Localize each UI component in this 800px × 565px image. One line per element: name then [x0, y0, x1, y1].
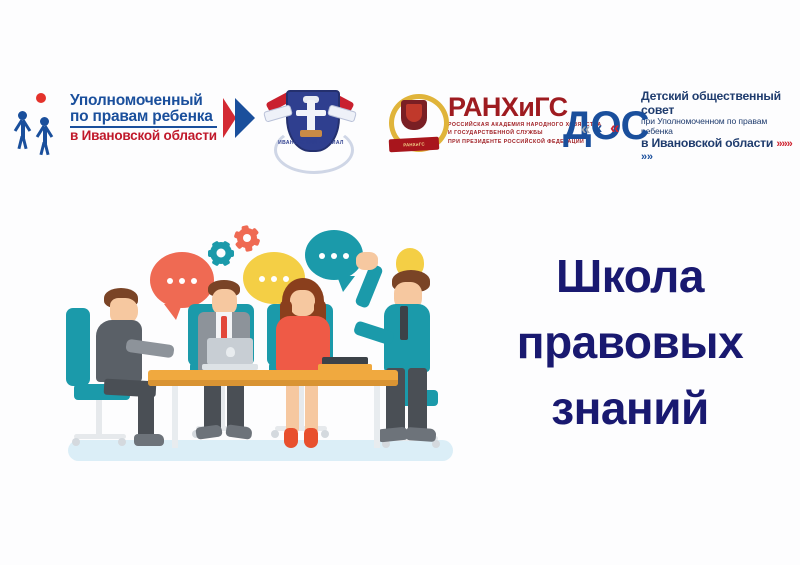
logo-ombudsman-text: Уполномоченный по правам ребенка в Ивано… — [70, 93, 217, 143]
logo-bar: Уполномоченный по правам ребенка в Ивано… — [0, 84, 800, 184]
dos-tail-blue-icon: »» — [641, 151, 653, 163]
page-title: Школа правовых знаний — [470, 243, 790, 442]
ombudsman-line-3: в Ивановской области — [70, 126, 217, 143]
logo-dos-text: Детский общественный совет при Уполномоч… — [641, 90, 800, 164]
logo-ombudsman: Уполномоченный по правам ребенка в Ивано… — [16, 90, 256, 146]
logo-crest: ИВАНОВСКИЙ ФИЛИАЛ — [262, 82, 358, 174]
meeting-illustration — [60, 220, 460, 470]
gear-teal-icon — [210, 242, 232, 264]
ranepa-ribbon-text: РАНХиГС — [389, 137, 440, 153]
page-title-line-3: знаний — [470, 375, 790, 441]
chevron-grey-icon: « — [581, 120, 589, 137]
ball-icon — [36, 93, 46, 103]
conference-table — [148, 370, 398, 386]
double-chevron-icon — [222, 92, 256, 144]
speech-bubble-teal-icon — [305, 230, 363, 280]
ombudsman-line-1: Уполномоченный — [70, 93, 217, 109]
page-title-line-1: Школа — [470, 243, 790, 309]
ranepa-emblem-icon: РАНХиГС — [385, 90, 443, 152]
ombudsman-line-2: по правам ребенка — [70, 109, 217, 125]
dos-line-1: Детский общественный совет — [641, 90, 800, 117]
laptop-icon — [202, 338, 258, 372]
chevron-blue-icon: « — [593, 119, 601, 136]
table-leg — [172, 386, 178, 448]
logo-dos: ДОС « « « Детский общественный совет при… — [563, 90, 800, 164]
crest-arc-text: ИВАНОВСКИЙ ФИЛИАЛ — [278, 140, 344, 146]
dos-line-3: в Ивановской области »»» »» — [641, 137, 800, 164]
crest-emblem-icon: ИВАНОВСКИЙ ФИЛИАЛ — [262, 82, 358, 174]
child-figure-icon — [40, 117, 49, 144]
person-man-grey-vest — [82, 288, 174, 448]
dos-line-3-text: в Ивановской области — [641, 136, 773, 150]
page-title-line-2: правовых — [470, 309, 790, 375]
child-figure-icon — [18, 111, 27, 138]
dos-monogram-letters: ДОС — [563, 101, 649, 151]
chevron-red-icon: « — [610, 119, 618, 136]
dos-line-2: при Уполномоченном по правам ребенка — [641, 117, 800, 136]
dos-monogram-icon: ДОС « « « — [563, 101, 637, 153]
dos-tail-red-icon: »»» — [776, 138, 791, 150]
table-leg — [374, 386, 380, 448]
gear-red-icon — [237, 228, 257, 248]
children-figures-icon — [16, 90, 64, 146]
poster-canvas: Уполномоченный по правам ребенка в Ивано… — [0, 0, 800, 565]
